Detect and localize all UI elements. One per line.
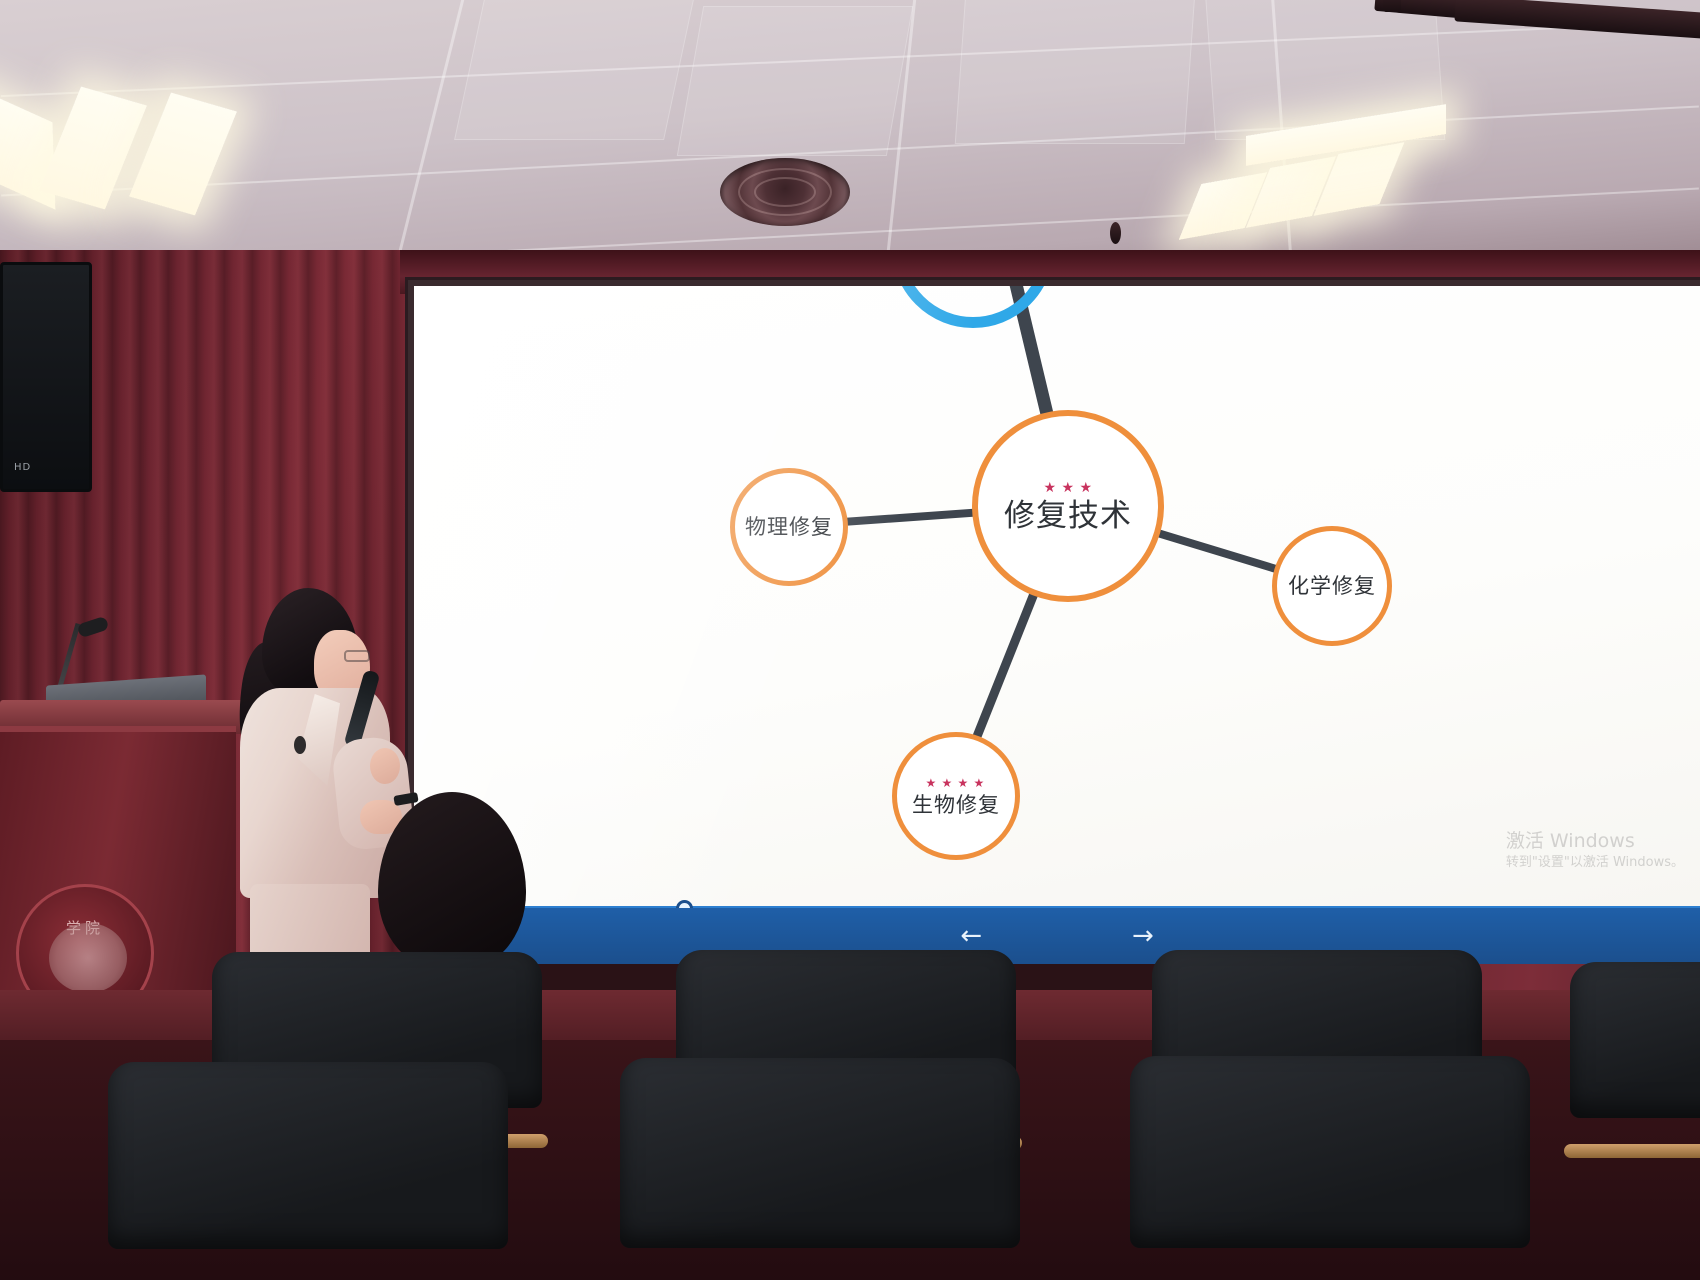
glasses-icon — [344, 650, 370, 662]
ceiling-tile — [454, 0, 696, 140]
presentation-toolbar[interactable]: ← → — [414, 908, 1700, 964]
star-icon: ★ — [958, 777, 971, 790]
theater-seat — [620, 1058, 1020, 1280]
watermark-line-1: 激活 Windows — [1506, 829, 1684, 855]
mindmap-diagram: ★ ★ ★ 修复技术 物理修复 化学修复 ★ ★ ★ ★ — [414, 286, 1700, 908]
mindmap-node-right-label: 化学修复 — [1288, 576, 1376, 597]
mindmap-node-right[interactable]: 化学修复 — [1272, 526, 1392, 646]
ceiling-sensor — [1110, 222, 1121, 244]
star-icon: ★ — [1080, 481, 1093, 494]
mindmap-node-left[interactable]: 物理修复 — [730, 468, 848, 586]
watermark-line-2: 转到"设置"以激活 Windows。 — [1506, 854, 1684, 872]
rating-stars: ★ ★ ★ — [1044, 481, 1093, 494]
mindmap-node-left-label: 物理修复 — [745, 517, 833, 538]
projection-screen: ★ ★ ★ 修复技术 物理修复 化学修复 ★ ★ ★ ★ — [414, 286, 1700, 908]
rating-stars: ★ ★ ★ ★ — [926, 777, 987, 790]
windows-activation-watermark: 激活 Windows 转到"设置"以激活 Windows。 — [1506, 829, 1684, 872]
monitor-label: HD — [14, 462, 31, 473]
ceiling-light-panel — [129, 93, 237, 216]
ceiling-vent — [720, 158, 850, 226]
ceiling-tile — [955, 0, 1195, 144]
ceiling-tile — [677, 6, 913, 156]
theater-seat — [1130, 1056, 1530, 1280]
vent-ring — [754, 177, 816, 207]
wall-monitor — [0, 262, 92, 492]
star-icon: ★ — [942, 777, 955, 790]
seat-back — [1130, 1056, 1530, 1248]
theater-seat — [1570, 962, 1700, 1162]
seat-armrest — [1564, 1144, 1700, 1158]
mindmap-node-center-label: 修复技术 — [1004, 501, 1132, 532]
presenter-brooch — [294, 736, 306, 754]
seat-back — [620, 1058, 1020, 1248]
presenter-hand-upper — [370, 748, 400, 784]
seat-back — [108, 1062, 508, 1249]
lecture-hall-photo: HD ★ ★ ★ 修复技术 — [0, 0, 1700, 1280]
star-icon: ★ — [926, 777, 939, 790]
seat-back — [1570, 962, 1700, 1118]
ceiling-speaker — [1454, 0, 1700, 39]
ceiling-speaker-mount — [1383, 0, 1401, 12]
next-slide-arrow-icon[interactable]: → — [1132, 923, 1154, 949]
mindmap-node-bottom-label: 生物修复 — [912, 795, 1000, 816]
theater-seat — [108, 1062, 508, 1280]
ceiling-grid-line — [390, 0, 473, 285]
star-icon: ★ — [1062, 481, 1075, 494]
emblem-inner-shape — [49, 923, 127, 993]
prev-slide-arrow-icon[interactable]: ← — [960, 923, 982, 949]
mindmap-node-bottom[interactable]: ★ ★ ★ ★ 生物修复 — [892, 732, 1020, 860]
star-icon: ★ — [1044, 481, 1057, 494]
star-icon: ★ — [974, 777, 987, 790]
mindmap-node-center[interactable]: ★ ★ ★ 修复技术 — [972, 410, 1164, 602]
